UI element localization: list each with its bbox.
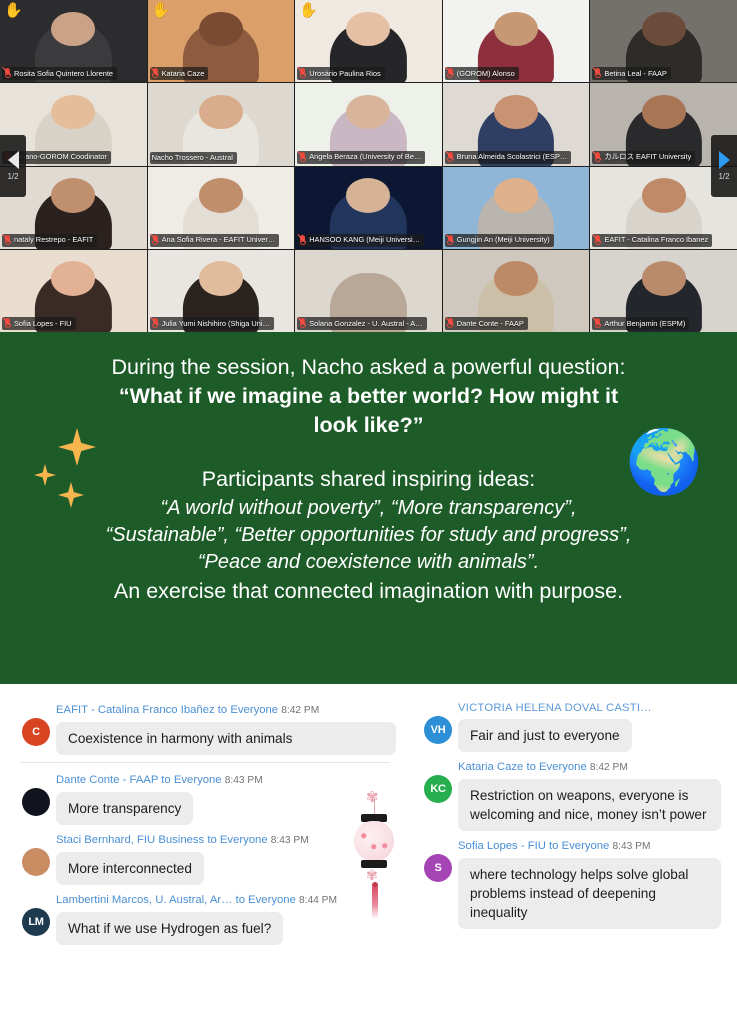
banner-idea-line-1: “A world without poverty”, “More transpa… (28, 495, 709, 521)
participant-head (51, 12, 95, 47)
participant-head (199, 178, 243, 213)
lantern-star: ✸ (370, 843, 378, 852)
zoom-meeting-recap-graphic: ✋Rosita Sofia Quintero Llorente✋Kataria … (0, 0, 737, 1024)
message-recipient-label: to Everyone (161, 774, 221, 786)
chevron-right-icon (719, 151, 730, 169)
participant-name-bar: Sofia Lopes - FIU (2, 317, 76, 330)
lantern-flower-top: ✾ (366, 790, 379, 805)
chat-message: CEAFIT - Catalina Franco Ibañez to Every… (14, 702, 396, 755)
participant-name-bar: Nacho Trossero - Austral (150, 152, 237, 164)
participant-head (642, 261, 686, 296)
banner-closing-line: An exercise that connected imagination w… (28, 578, 709, 606)
previous-page-button[interactable]: 1/2 (0, 135, 26, 197)
lantern-star: ✸ (360, 832, 368, 841)
video-tile[interactable]: HANSOO KANG (Meiji Universi… (295, 167, 442, 249)
participant-head (347, 261, 391, 296)
video-tile[interactable]: (GOROM) Alonso (443, 0, 590, 82)
video-tile[interactable]: Julia Yumi Nishihiro (Shiga Uni… (148, 250, 295, 332)
participant-name-bar: Angela Beraza (University of Be… (297, 151, 425, 164)
banner-quote-line-1: “What if we imagine a better world? How … (28, 383, 709, 411)
participant-name: Sofia Lopes - FIU (14, 319, 72, 329)
message-meta: Dante Conte - FAAP to Everyone 8:43 PM (56, 772, 396, 789)
participant-name: Julia Yumi Nishihiro (Shiga Uni… (162, 319, 270, 329)
message-bubble: where technology helps solve global prob… (458, 858, 721, 929)
avatar: VH (424, 716, 452, 744)
participant-name-bar: Dante Conte - FAAP (445, 317, 528, 330)
lantern-body: ✸ ✸ ✸ (354, 821, 394, 861)
message-sender: Kataria Caze (458, 761, 523, 773)
quote-banner: 🌍 During the session, Nacho asked a powe… (0, 332, 737, 684)
message-meta: Kataria Caze to Everyone 8:42 PM (458, 759, 721, 776)
message-bubble: Fair and just to everyone (458, 719, 632, 752)
participant-head (347, 12, 391, 47)
banner-intro-line: During the session, Nacho asked a powerf… (28, 354, 709, 382)
avatar: S (424, 854, 452, 882)
avatar (22, 788, 50, 816)
microphone-muted-icon (447, 318, 454, 329)
microphone-muted-icon (4, 68, 11, 79)
message-sender: Sofia Lopes - FIU (458, 840, 546, 852)
video-tile[interactable]: Nacho Trossero - Austral (148, 83, 295, 165)
video-tile[interactable]: Dante Conte - FAAP (443, 250, 590, 332)
banner-idea-line-2: “Sustainable”, “Better opportunities for… (28, 522, 709, 548)
participant-name: Nacho Trossero - Austral (152, 153, 233, 163)
raise-hand-icon: ✋ (152, 3, 171, 18)
chat-message: Dante Conte - FAAP to Everyone 8:43 PMMo… (14, 772, 396, 825)
chevron-left-icon (8, 151, 19, 169)
lantern-flower-bottom: ✾ (366, 868, 378, 882)
participant-head (199, 12, 243, 47)
participant-name-bar: Julia Yumi Nishihiro (Shiga Uni… (150, 317, 274, 330)
message-meta: EAFIT - Catalina Franco Ibañez to Everyo… (56, 702, 396, 719)
participant-name: EAFIT - Catalina Franco Ibanez (604, 235, 708, 245)
participant-head (642, 95, 686, 130)
participant-head (199, 261, 243, 296)
message-timestamp: 8:44 PM (299, 895, 337, 906)
participant-name-bar: Bruna Almeida Scolastrici (ESP… (445, 151, 572, 164)
page-indicator: 1/2 (7, 172, 18, 181)
microphone-muted-icon (4, 235, 11, 246)
chat-message: SSofia Lopes - FIU to Everyone 8:43 PMwh… (416, 838, 721, 929)
video-tile[interactable]: Solana Gonzalez - U. Austral - A… (295, 250, 442, 332)
participant-name: Kataria Caze (162, 69, 205, 79)
participant-head (642, 178, 686, 213)
participant-name-bar: Kataria Caze (150, 67, 209, 80)
microphone-muted-icon (447, 235, 454, 246)
participant-head (199, 95, 243, 130)
participant-head (494, 95, 538, 130)
chat-column-right: VHVICTORIA HELENA DOVAL CASTI…Fair and j… (410, 694, 737, 1024)
message-meta: Staci Bernhard, FIU Business to Everyone… (56, 832, 396, 849)
raise-hand-icon: ✋ (4, 3, 23, 18)
message-sender: Lambertini Marcos, U. Austral, Ar… (56, 894, 232, 906)
participant-name-bar: HANSOO KANG (Meiji Universi… (297, 234, 424, 247)
raise-hand-icon: ✋ (299, 3, 318, 18)
participant-name: Gungjin An (Meiji University) (457, 235, 550, 245)
video-tile[interactable]: Angela Beraza (University of Be… (295, 83, 442, 165)
message-timestamp: 8:43 PM (612, 841, 650, 852)
participant-head (642, 12, 686, 47)
lantern-decoration-icon: ✾ ✸ ✸ ✸ ✾ (352, 790, 398, 920)
participant-name-bar: Solana Gonzalez - U. Austral - A… (297, 317, 426, 330)
participant-head (494, 12, 538, 47)
participant-name: Solana Gonzalez - U. Austral - A… (309, 319, 422, 329)
message-recipient-label: to Everyone (218, 704, 278, 716)
microphone-muted-icon (299, 318, 306, 329)
microphone-muted-icon (152, 235, 159, 246)
microphone-muted-icon (299, 68, 306, 79)
avatar: LM (22, 908, 50, 936)
video-participant-grid: ✋Rosita Sofia Quintero Llorente✋Kataria … (0, 0, 737, 332)
video-tile[interactable]: ✋Kataria Caze (148, 0, 295, 82)
participant-name-bar: EAFIT - Catalina Franco Ibanez (592, 234, 712, 247)
banner-idea-line-3: “Peace and coexistence with animals”. (28, 549, 709, 575)
participant-name-bar: nataly Restrepo - EAFIT (2, 234, 97, 247)
participant-head (347, 178, 391, 213)
message-meta: Lambertini Marcos, U. Austral, Ar… to Ev… (56, 892, 396, 909)
participant-name: Arthur Benjamin (ESPM) (604, 319, 685, 329)
participant-name-bar: (GOROM) Alonso (445, 67, 519, 80)
message-recipient-label: to Everyone (207, 834, 267, 846)
banner-spacer (28, 440, 709, 466)
microphone-muted-icon (447, 152, 454, 163)
lantern-star: ✸ (381, 842, 389, 851)
video-tile[interactable]: Gungjin An (Meiji University) (443, 167, 590, 249)
message-meta: VICTORIA HELENA DOVAL CASTI… (458, 700, 721, 716)
message-bubble: More interconnected (56, 852, 204, 885)
sparkles-icon (34, 428, 114, 518)
message-bubble: More transparency (56, 792, 193, 825)
participant-name-bar: Ana Sofia Rivera - EAFIT Univer… (150, 234, 280, 247)
message-sender: VICTORIA HELENA DOVAL CASTI… (458, 702, 652, 714)
participant-name-bar: カルロス EAFIT University (592, 151, 695, 164)
video-tile[interactable]: Sofia Lopes - FIU (0, 250, 147, 332)
earth-globe-icon: 🌍 (626, 432, 703, 494)
participant-head (494, 261, 538, 296)
lantern-tassel (372, 887, 378, 919)
chat-message: Staci Bernhard, FIU Business to Everyone… (14, 832, 396, 885)
video-tile[interactable]: ✋Rosita Sofia Quintero Llorente (0, 0, 147, 82)
microphone-muted-icon (299, 152, 306, 163)
participant-head (347, 95, 391, 130)
participant-name: Dante Conte - FAAP (457, 319, 524, 329)
microphone-muted-icon (447, 68, 454, 79)
avatar (22, 848, 50, 876)
participant-name: Angela Beraza (University of Be… (309, 152, 421, 162)
microphone-muted-icon (594, 68, 601, 79)
participant-name: Ana Sofia Rivera - EAFIT Univer… (162, 235, 276, 245)
participant-name: Bruna Almeida Scolastrici (ESP… (457, 152, 568, 162)
participant-name: nataly Restrepo - EAFIT (14, 235, 93, 245)
chat-message: VHVICTORIA HELENA DOVAL CASTI…Fair and j… (416, 700, 721, 752)
participant-head (51, 95, 95, 130)
chat-message: KCKataria Caze to Everyone 8:42 PMRestri… (416, 759, 721, 831)
microphone-muted-icon (152, 318, 159, 329)
message-divider (20, 762, 390, 763)
message-recipient-label: to Everyone (236, 894, 296, 906)
chat-message: LMLambertini Marcos, U. Austral, Ar… to … (14, 892, 396, 945)
next-page-button[interactable]: 1/2 (711, 135, 737, 197)
microphone-muted-icon (594, 318, 601, 329)
message-timestamp: 8:42 PM (590, 762, 628, 773)
microphone-muted-icon (152, 68, 159, 79)
microphone-muted-icon (4, 318, 11, 329)
video-tile[interactable]: ✋Urosário Paulina Rios (295, 0, 442, 82)
message-sender: EAFIT - Catalina Franco Ibañez (56, 704, 215, 716)
participant-name-bar: Arthur Benjamin (ESPM) (592, 317, 689, 330)
video-tile[interactable]: Betina Leal - FAAP (590, 0, 737, 82)
participant-name: カルロス EAFIT University (604, 152, 691, 162)
participant-name: HANSOO KANG (Meiji Universi… (309, 235, 420, 245)
participant-name: Rosita Sofia Quintero Llorente (14, 69, 113, 79)
video-tile[interactable]: Ana Sofia Rivera - EAFIT Univer… (148, 167, 295, 249)
participant-name: Hinano-GOROM Coodinator (14, 152, 107, 162)
message-timestamp: 8:43 PM (225, 775, 263, 786)
avatar: C (22, 718, 50, 746)
microphone-muted-icon (299, 235, 306, 246)
participant-name: Betina Leal - FAAP (604, 69, 666, 79)
page-indicator: 1/2 (718, 172, 729, 181)
message-sender: Dante Conte - FAAP (56, 774, 158, 786)
message-sender: Staci Bernhard, FIU Business (56, 834, 204, 846)
participant-name-bar: Betina Leal - FAAP (592, 67, 670, 80)
participant-head (51, 178, 95, 213)
message-recipient-label: to Everyone (526, 761, 586, 773)
microphone-muted-icon (594, 235, 601, 246)
message-timestamp: 8:42 PM (281, 705, 319, 716)
participant-head (494, 178, 538, 213)
banner-shared-header: Participants shared inspiring ideas: (28, 466, 709, 494)
avatar: KC (424, 775, 452, 803)
message-bubble: Restriction on weapons, everyone is welc… (458, 779, 721, 831)
video-tile[interactable]: Bruna Almeida Scolastrici (ESP… (443, 83, 590, 165)
message-meta: Sofia Lopes - FIU to Everyone 8:43 PM (458, 838, 721, 855)
participant-name: (GOROM) Alonso (457, 69, 515, 79)
participant-head (51, 261, 95, 296)
microphone-muted-icon (594, 152, 601, 163)
chat-column-left: CEAFIT - Catalina Franco Ibañez to Every… (0, 694, 410, 1024)
message-bubble: What if we use Hydrogen as fuel? (56, 912, 283, 945)
video-tile[interactable]: Arthur Benjamin (ESPM) (590, 250, 737, 332)
message-timestamp: 8:43 PM (271, 835, 309, 846)
participant-name-bar: Rosita Sofia Quintero Llorente (2, 67, 117, 80)
participant-name: Urosário Paulina Rios (309, 69, 380, 79)
banner-quote-line-2: look like?” (28, 412, 709, 440)
participant-name-bar: Gungjin An (Meiji University) (445, 234, 554, 247)
participant-name-bar: Urosário Paulina Rios (297, 67, 384, 80)
message-bubble: Coexistence in harmony with animals (56, 722, 396, 755)
message-recipient-label: to Everyone (549, 840, 609, 852)
